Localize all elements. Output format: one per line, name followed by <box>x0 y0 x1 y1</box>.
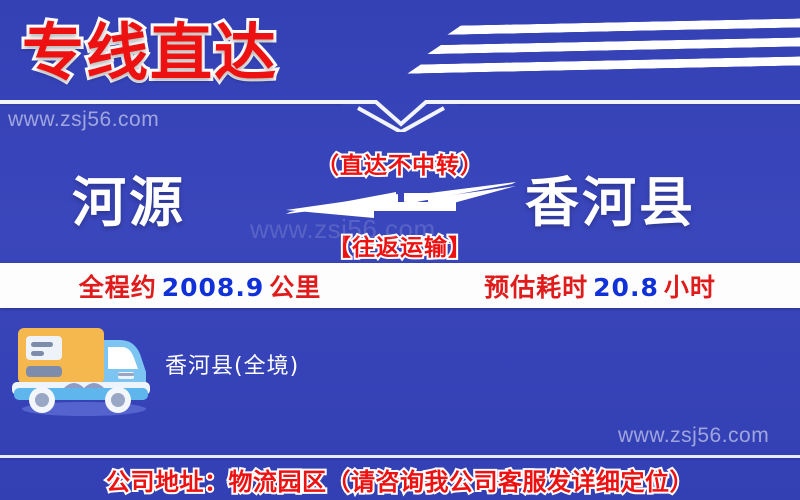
duration-label-prefix: 预估耗时 <box>484 273 588 302</box>
metric-distance: 全程约2008.9公里 <box>0 268 400 304</box>
stripe-2 <box>427 37 800 54</box>
delivery-truck-icon <box>8 314 158 418</box>
destination-city: 香河县 <box>525 158 696 237</box>
watermark-center: www.zsj56.com <box>250 214 436 245</box>
distance-label-prefix: 全程约 <box>79 273 157 302</box>
divider-line-right <box>458 100 800 104</box>
diagonal-stripes-decoration <box>410 8 800 82</box>
page-title: 专线直达 <box>22 2 278 92</box>
metric-duration: 预估耗时20.8小时 <box>400 268 800 304</box>
duration-value: 20.8 <box>588 273 664 302</box>
duration-unit: 小时 <box>664 273 716 302</box>
company-address-text: 公司地址：物流园区（请咨询我公司客服发详细定位） <box>106 462 694 497</box>
divider-line-left <box>0 100 342 104</box>
direct-no-transfer-badge: （直达不中转） <box>280 146 520 180</box>
distance-value: 2008.9 <box>157 273 269 302</box>
footer-bar: 公司地址：物流园区（请咨询我公司客服发详细定位） <box>0 458 800 500</box>
metrics-bar: 全程约2008.9公里 预估耗时20.8小时 <box>0 263 800 308</box>
stripe-1 <box>447 18 800 35</box>
origin-city: 河源 <box>72 158 186 237</box>
banner-header: 专线直达 <box>0 0 800 100</box>
chevron-down-icon <box>336 96 466 132</box>
watermark-bottom-right: www.zsj56.com <box>618 424 769 448</box>
distance-unit: 公里 <box>269 273 321 302</box>
stripe-3 <box>407 56 800 74</box>
coverage-row: 香河县(全境) <box>0 312 800 422</box>
coverage-text: 香河县(全境) <box>165 348 299 380</box>
logistics-route-banner: 专线直达 河源 （直达不中转） 【往返运输】 香 <box>0 0 800 500</box>
watermark-top-left: www.zsj56.com <box>8 108 159 132</box>
